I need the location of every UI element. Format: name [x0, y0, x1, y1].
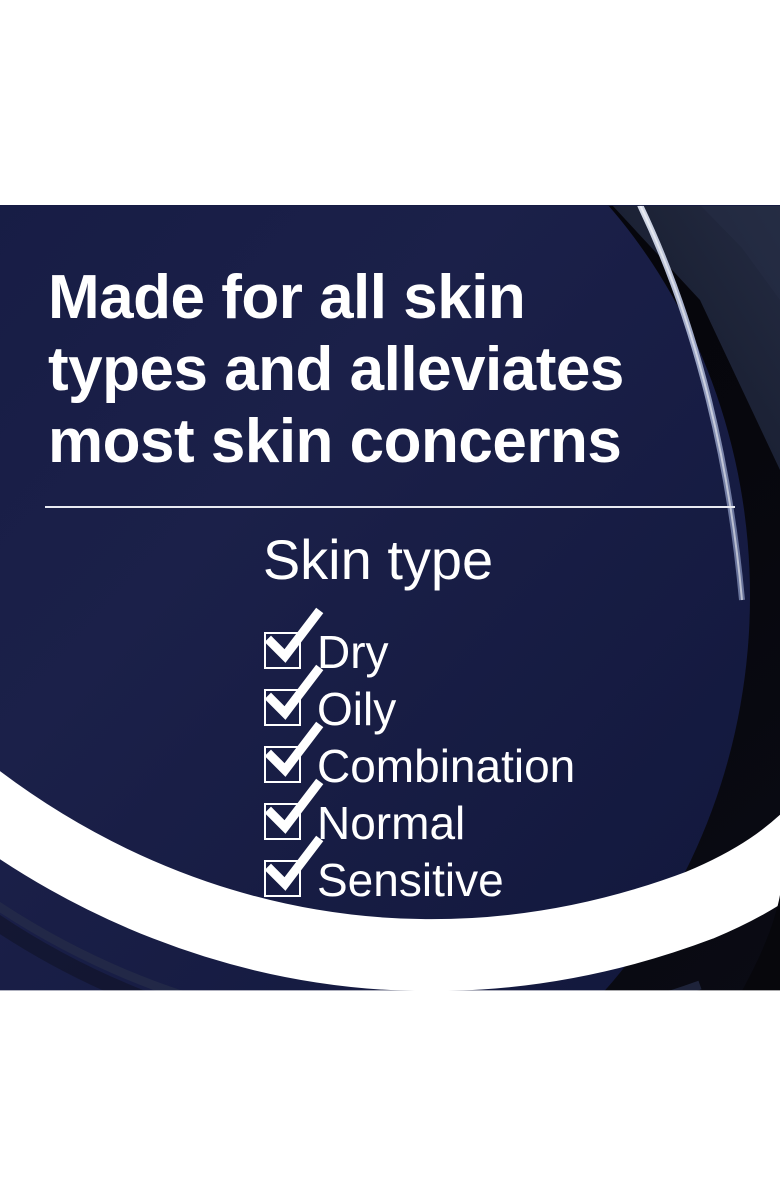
checkmark-icon [265, 612, 323, 670]
page-title: Made for all skin types and alleviates m… [48, 262, 708, 478]
list-item-label: Sensitive [317, 854, 504, 906]
content-layer: Made for all skin types and alleviates m… [0, 0, 780, 1196]
checkmark-icon [265, 783, 323, 841]
list-item-label: Oily [317, 683, 396, 735]
checkmark-icon [265, 840, 323, 898]
divider [45, 506, 735, 508]
checkmark-icon [265, 726, 323, 784]
list-item-label: Normal [317, 797, 465, 849]
list-item-label: Dry [317, 626, 389, 678]
list-item-label: Combination [317, 740, 575, 792]
infographic-panel: Made for all skin types and alleviates m… [0, 0, 780, 1196]
checkmark-icon [265, 669, 323, 727]
section-heading-skin-type: Skin type [0, 528, 756, 592]
